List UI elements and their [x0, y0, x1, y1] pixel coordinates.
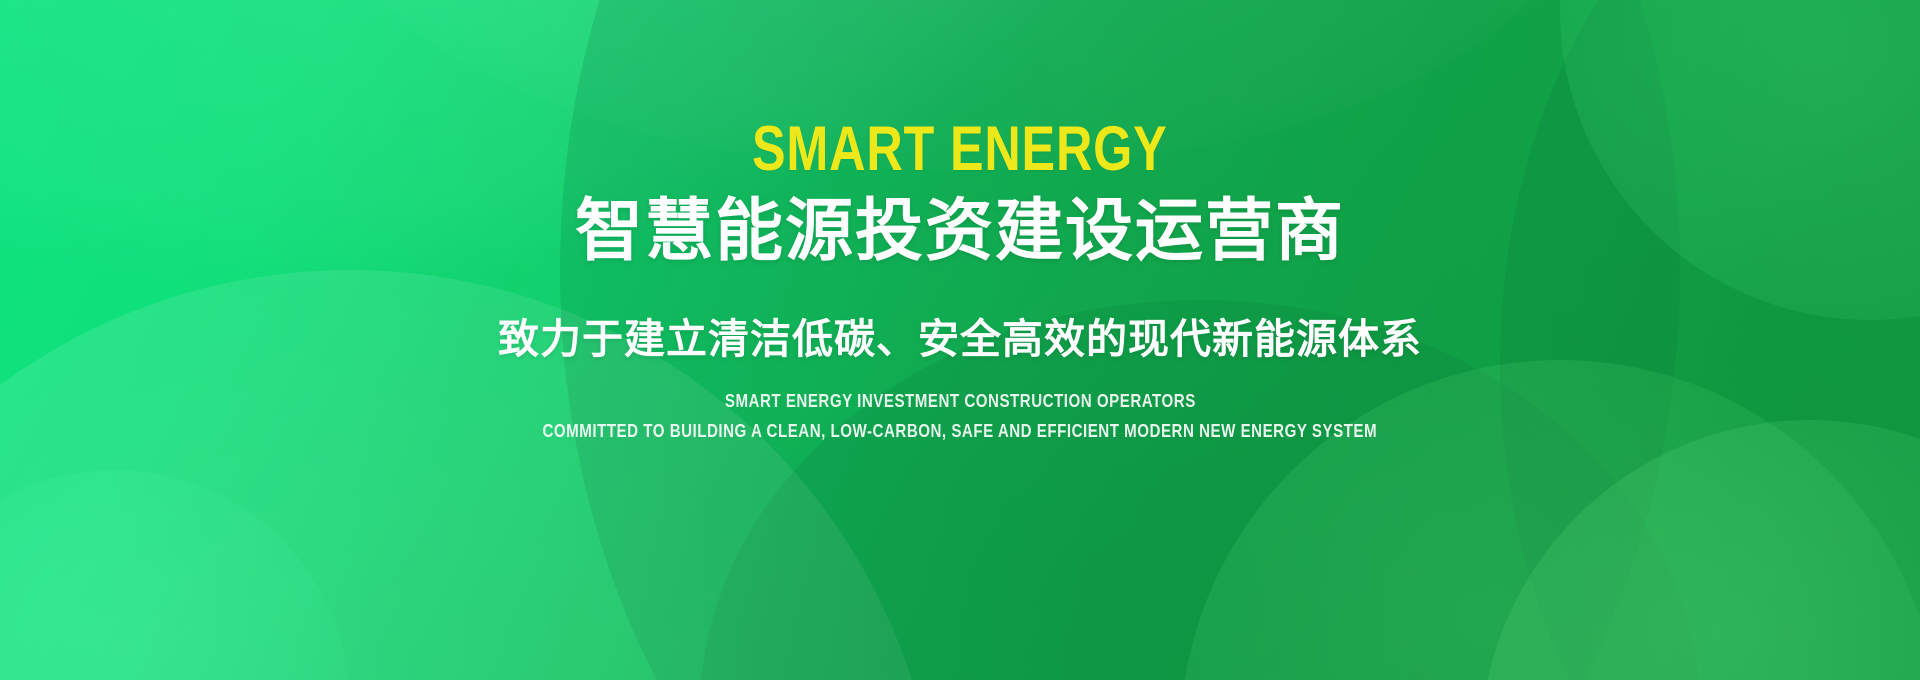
- banner-tagline: 致力于建立清洁低碳、安全高效的现代新能源体系: [498, 317, 1422, 362]
- banner-content: SMART ENERGY 智慧能源投资建设运营商 致力于建立清洁低碳、安全高效的…: [0, 0, 1920, 680]
- hero-banner: SMART ENERGY 智慧能源投资建设运营商 致力于建立清洁低碳、安全高效的…: [0, 0, 1920, 680]
- banner-subtitle-english-line-2: COMMITTED TO BUILDING A CLEAN, LOW-CARBO…: [543, 422, 1378, 440]
- banner-eyebrow-title: SMART ENERGY: [752, 118, 1168, 181]
- banner-subtitle-english-line-1: SMART ENERGY INVESTMENT CONSTRUCTION OPE…: [725, 392, 1196, 410]
- banner-main-heading: 智慧能源投资建设运营商: [575, 195, 1345, 267]
